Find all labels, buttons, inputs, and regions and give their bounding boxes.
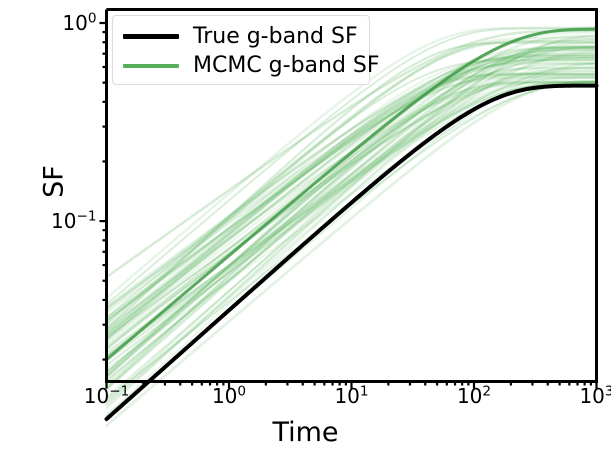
mcmc-draw <box>107 63 597 379</box>
x-tick-label-4: 103 <box>579 386 611 406</box>
mcmc-draw <box>107 55 597 377</box>
legend-label-true: True g-band SF <box>193 24 358 49</box>
legend-item-mcmc: MCMC g-band SF <box>123 51 359 80</box>
mcmc-ensemble-curves <box>107 28 597 426</box>
x-axis-label: Time <box>0 419 611 446</box>
mcmc-draw <box>107 48 597 416</box>
x-tick-label-1: 100 <box>212 386 246 406</box>
x-tick-label-3: 102 <box>457 386 491 406</box>
figure: 10−1100101102103 10010−1 SF Time True g-… <box>0 0 611 458</box>
y-axis-label: SF <box>41 122 68 242</box>
legend-swatch-mcmc <box>123 64 179 68</box>
mcmc-draw <box>107 48 597 377</box>
legend-swatch-true <box>123 34 179 39</box>
x-tick-label-2: 101 <box>334 386 368 406</box>
mcmc-draw <box>107 82 597 374</box>
legend-item-true: True g-band SF <box>123 22 359 51</box>
x-tick-label-0: 10−1 <box>84 386 130 406</box>
y-tick-label-0: 100 <box>62 11 96 35</box>
chart-legend[interactable]: True g-band SF MCMC g-band SF <box>112 15 370 85</box>
legend-label-mcmc: MCMC g-band SF <box>193 53 380 78</box>
